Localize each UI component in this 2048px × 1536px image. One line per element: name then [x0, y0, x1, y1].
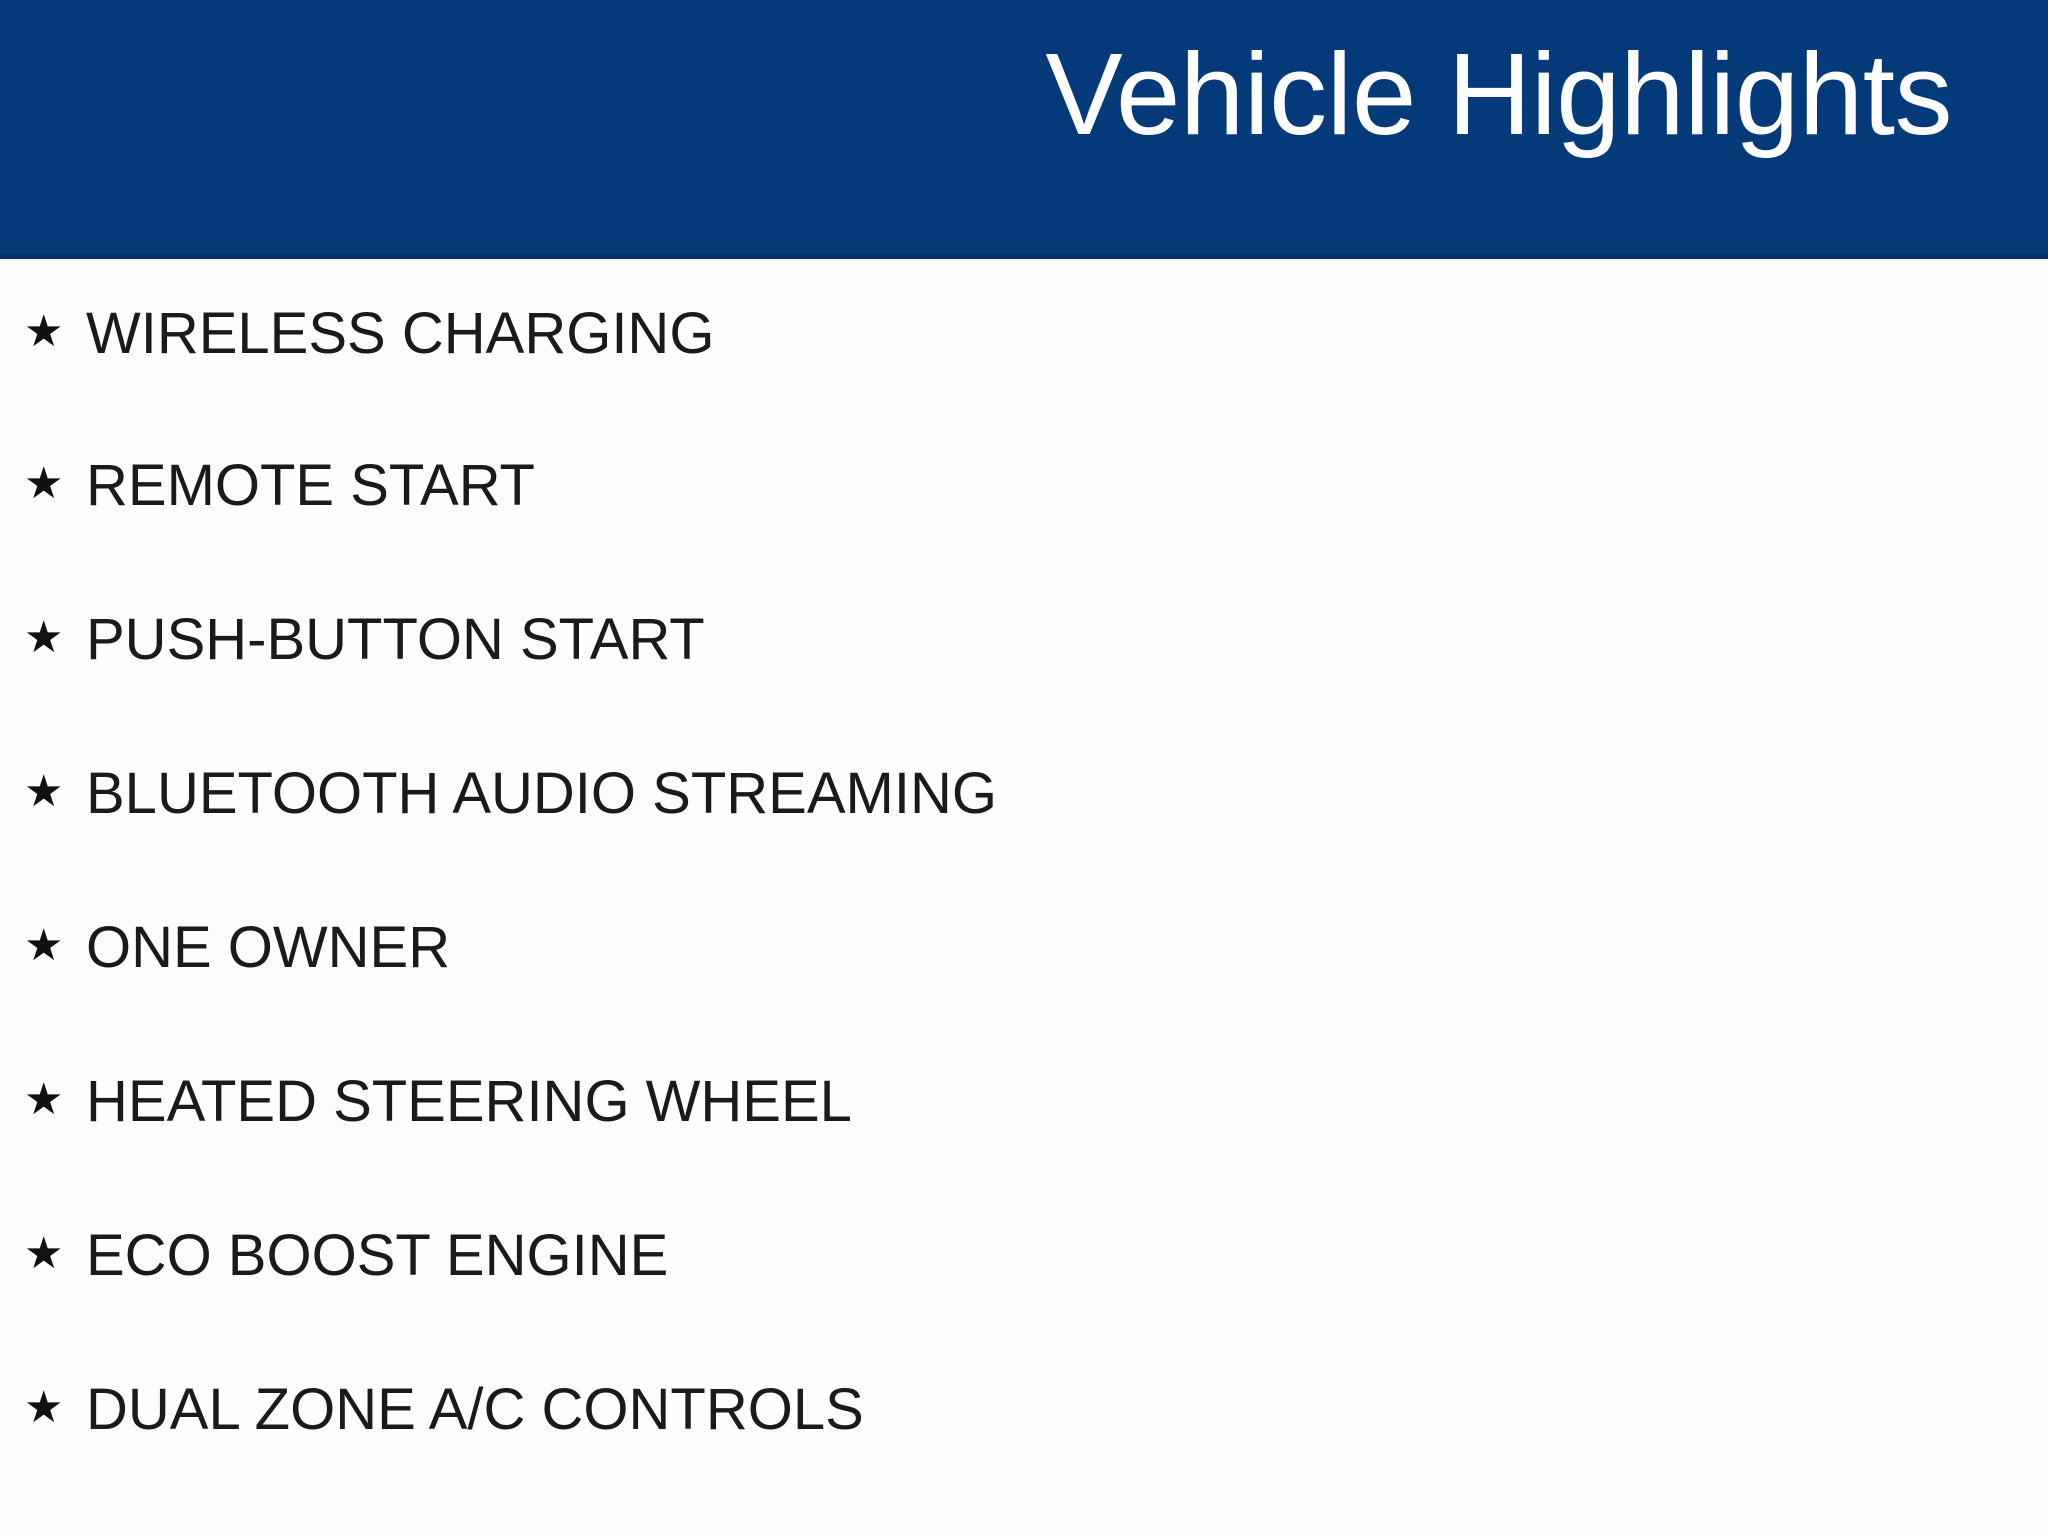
list-item: ★ REMOTE START [0, 409, 2048, 563]
highlight-label: PUSH-BUTTON START [86, 611, 705, 669]
list-item: ★ ONE OWNER [0, 871, 2048, 1025]
list-item: ★ BLUETOOTH AUDIO STREAMING [0, 717, 2048, 871]
page-title: Vehicle Highlights [1045, 32, 1952, 157]
highlight-label: BLUETOOTH AUDIO STREAMING [86, 765, 997, 823]
vehicle-highlights-list: ★ WIRELESS CHARGING ★ REMOTE START ★ PUS… [0, 259, 2048, 1536]
list-item: ★ PUSH-BUTTON START [0, 563, 2048, 717]
highlight-label: HEATED STEERING WHEEL [86, 1073, 852, 1131]
star-bullet-icon: ★ [24, 1078, 86, 1126]
star-bullet-icon: ★ [24, 770, 86, 818]
star-bullet-icon: ★ [24, 1386, 86, 1434]
list-item: ★ ECO BOOST ENGINE [0, 1179, 2048, 1333]
list-item: ★ DUAL ZONE A/C CONTROLS [0, 1333, 2048, 1487]
star-bullet-icon: ★ [24, 616, 86, 664]
highlight-label: REMOTE START [86, 457, 535, 515]
highlight-label: DUAL ZONE A/C CONTROLS [86, 1381, 864, 1439]
highlight-label: ECO BOOST ENGINE [86, 1227, 668, 1285]
vehicle-highlights-page: Vehicle Highlights ★ WIRELESS CHARGING ★… [0, 0, 2048, 1536]
list-item: ★ HEATED STEERING WHEEL [0, 1025, 2048, 1179]
highlight-label: WIRELESS CHARGING [86, 305, 714, 363]
star-bullet-icon: ★ [24, 924, 86, 972]
header-banner: Vehicle Highlights [0, 0, 2048, 255]
star-bullet-icon: ★ [24, 1232, 86, 1280]
list-item: ★ WIRELESS CHARGING [0, 259, 2048, 409]
star-bullet-icon: ★ [24, 310, 86, 358]
highlight-label: ONE OWNER [86, 919, 450, 977]
star-bullet-icon: ★ [24, 462, 86, 510]
